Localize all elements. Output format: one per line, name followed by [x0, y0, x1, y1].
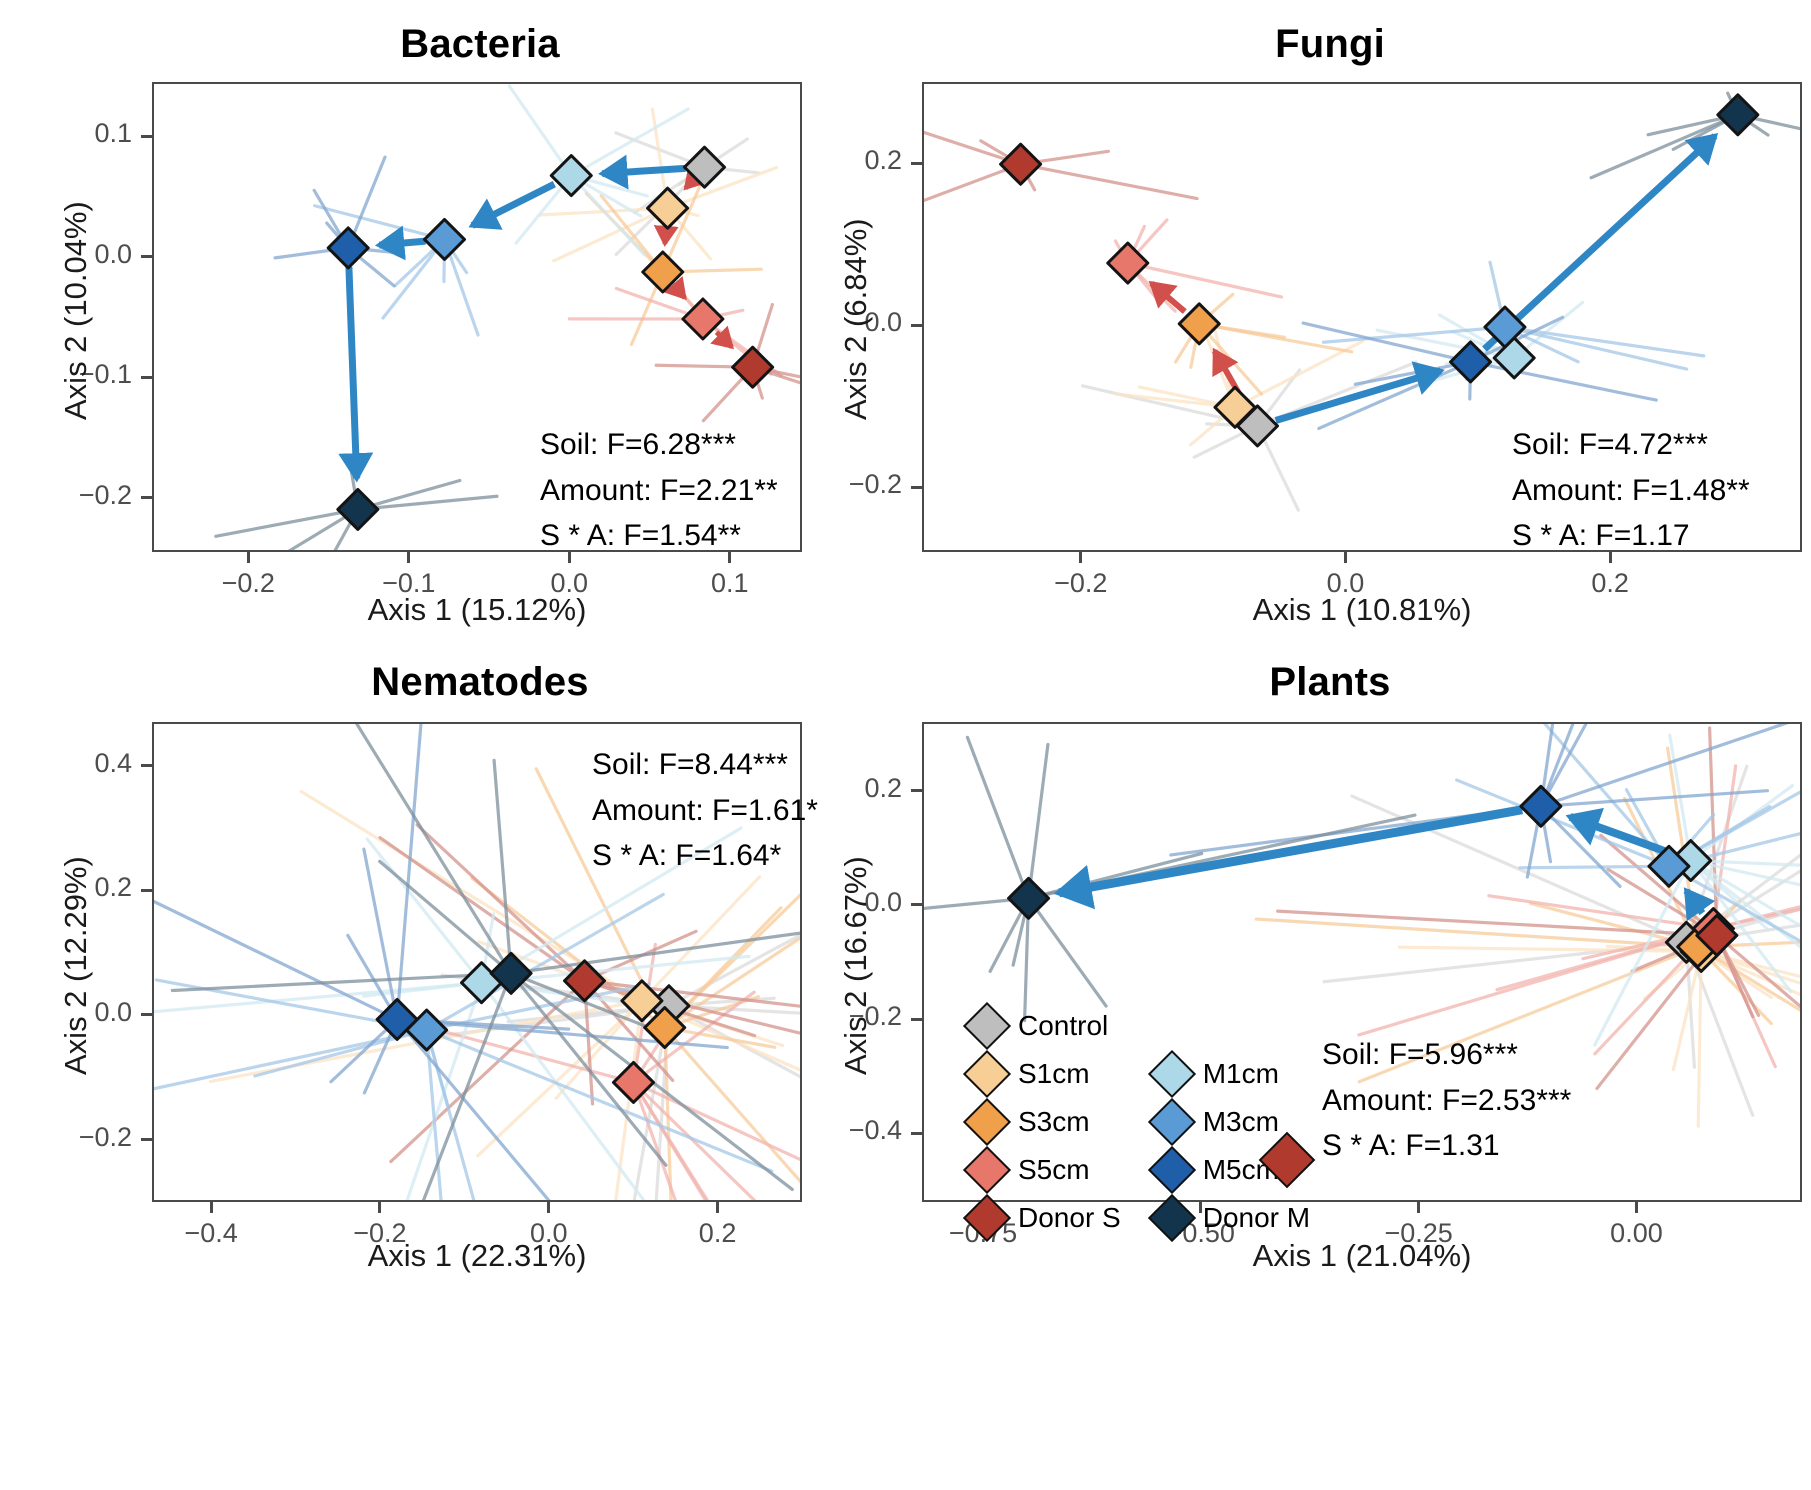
- y-tick-mark: [911, 789, 922, 792]
- spider-segment: [1710, 728, 1717, 935]
- legend-swatch-diamond-icon: [1148, 1098, 1196, 1146]
- stat-line: S * A: F=1.31: [1322, 1123, 1571, 1169]
- legend-swatch-diamond-icon: [963, 1146, 1011, 1194]
- figure-root: Bacteria0.10.0−0.1−0.2−0.2−0.10.00.1Axis…: [0, 0, 1811, 1490]
- legend-item-m1cm[interactable]: M1cm: [1155, 1050, 1310, 1098]
- legend-label: M1cm: [1203, 1058, 1279, 1090]
- legend-swatch-diamond-icon: [1148, 1146, 1196, 1194]
- y-tick-label: −0.4: [0, 1115, 902, 1146]
- panel-title: Plants: [1000, 660, 1660, 705]
- x-axis-label: Axis 1 (21.04%): [922, 1238, 1802, 1274]
- legend-label: Donor S: [1018, 1202, 1121, 1234]
- legend-item-s5cm[interactable]: S5cm: [970, 1146, 1121, 1194]
- stat-line: Soil: F=5.96***: [1322, 1032, 1571, 1078]
- legend-swatch-diamond-icon: [1148, 1050, 1196, 1098]
- y-tick-mark: [911, 1132, 922, 1135]
- y-axis-label: Axis 2 (16.67%): [838, 856, 874, 1075]
- legend-swatch-diamond-icon: [963, 1002, 1011, 1050]
- legend-label: M3cm: [1203, 1106, 1279, 1138]
- spider-segment: [1520, 866, 1669, 867]
- legend-item-donor-s[interactable]: Donor S: [970, 1194, 1121, 1242]
- y-tick-mark: [911, 903, 922, 906]
- y-tick-label: 0.2: [0, 773, 902, 804]
- centroid-marker-donor-m[interactable]: [1009, 878, 1049, 918]
- legend-item-control[interactable]: Control: [970, 1002, 1121, 1050]
- legend-item-s1cm[interactable]: S1cm: [970, 1050, 1121, 1098]
- legend-label: S3cm: [1018, 1106, 1090, 1138]
- legend-swatch-diamond-icon: [963, 1194, 1011, 1242]
- y-tick-mark: [911, 1018, 922, 1021]
- panel-plants: Plants0.20.0−0.2−0.4−0.75−0.50−0.250.00A…: [0, 0, 1811, 1490]
- legend-item-s3cm[interactable]: S3cm: [970, 1098, 1121, 1146]
- stat-line: Amount: F=2.53***: [1322, 1078, 1571, 1124]
- legend-swatch-diamond-icon: [1148, 1194, 1196, 1242]
- legend-column-soil: ControlS1cmS3cmS5cmDonor S: [970, 1002, 1121, 1242]
- spider-segment: [967, 737, 1028, 898]
- legend-label: Donor M: [1203, 1202, 1310, 1234]
- legend-item-donor-m[interactable]: Donor M: [1155, 1194, 1310, 1242]
- legend-swatch-diamond-icon: [963, 1050, 1011, 1098]
- x-tick-mark: [1635, 1202, 1638, 1213]
- legend-label: Control: [1018, 1010, 1108, 1042]
- spider-segment: [1029, 898, 1107, 1006]
- legend-label: S1cm: [1018, 1058, 1090, 1090]
- y-tick-label: −0.2: [0, 1001, 902, 1032]
- legend-label: S5cm: [1018, 1154, 1090, 1186]
- x-tick-mark: [1417, 1202, 1420, 1213]
- legend-swatch-diamond-icon: [963, 1098, 1011, 1146]
- spider-segment: [1029, 744, 1048, 898]
- trajectory-arrow: [1059, 810, 1522, 893]
- legend: ControlS1cmS3cmS5cmDonor SM1cmM3cmM5cmDo…: [970, 1002, 1310, 1242]
- stats-annotation: Soil: F=5.96***Amount: F=2.53***S * A: F…: [1322, 1032, 1571, 1169]
- y-tick-label: 0.0: [0, 887, 902, 918]
